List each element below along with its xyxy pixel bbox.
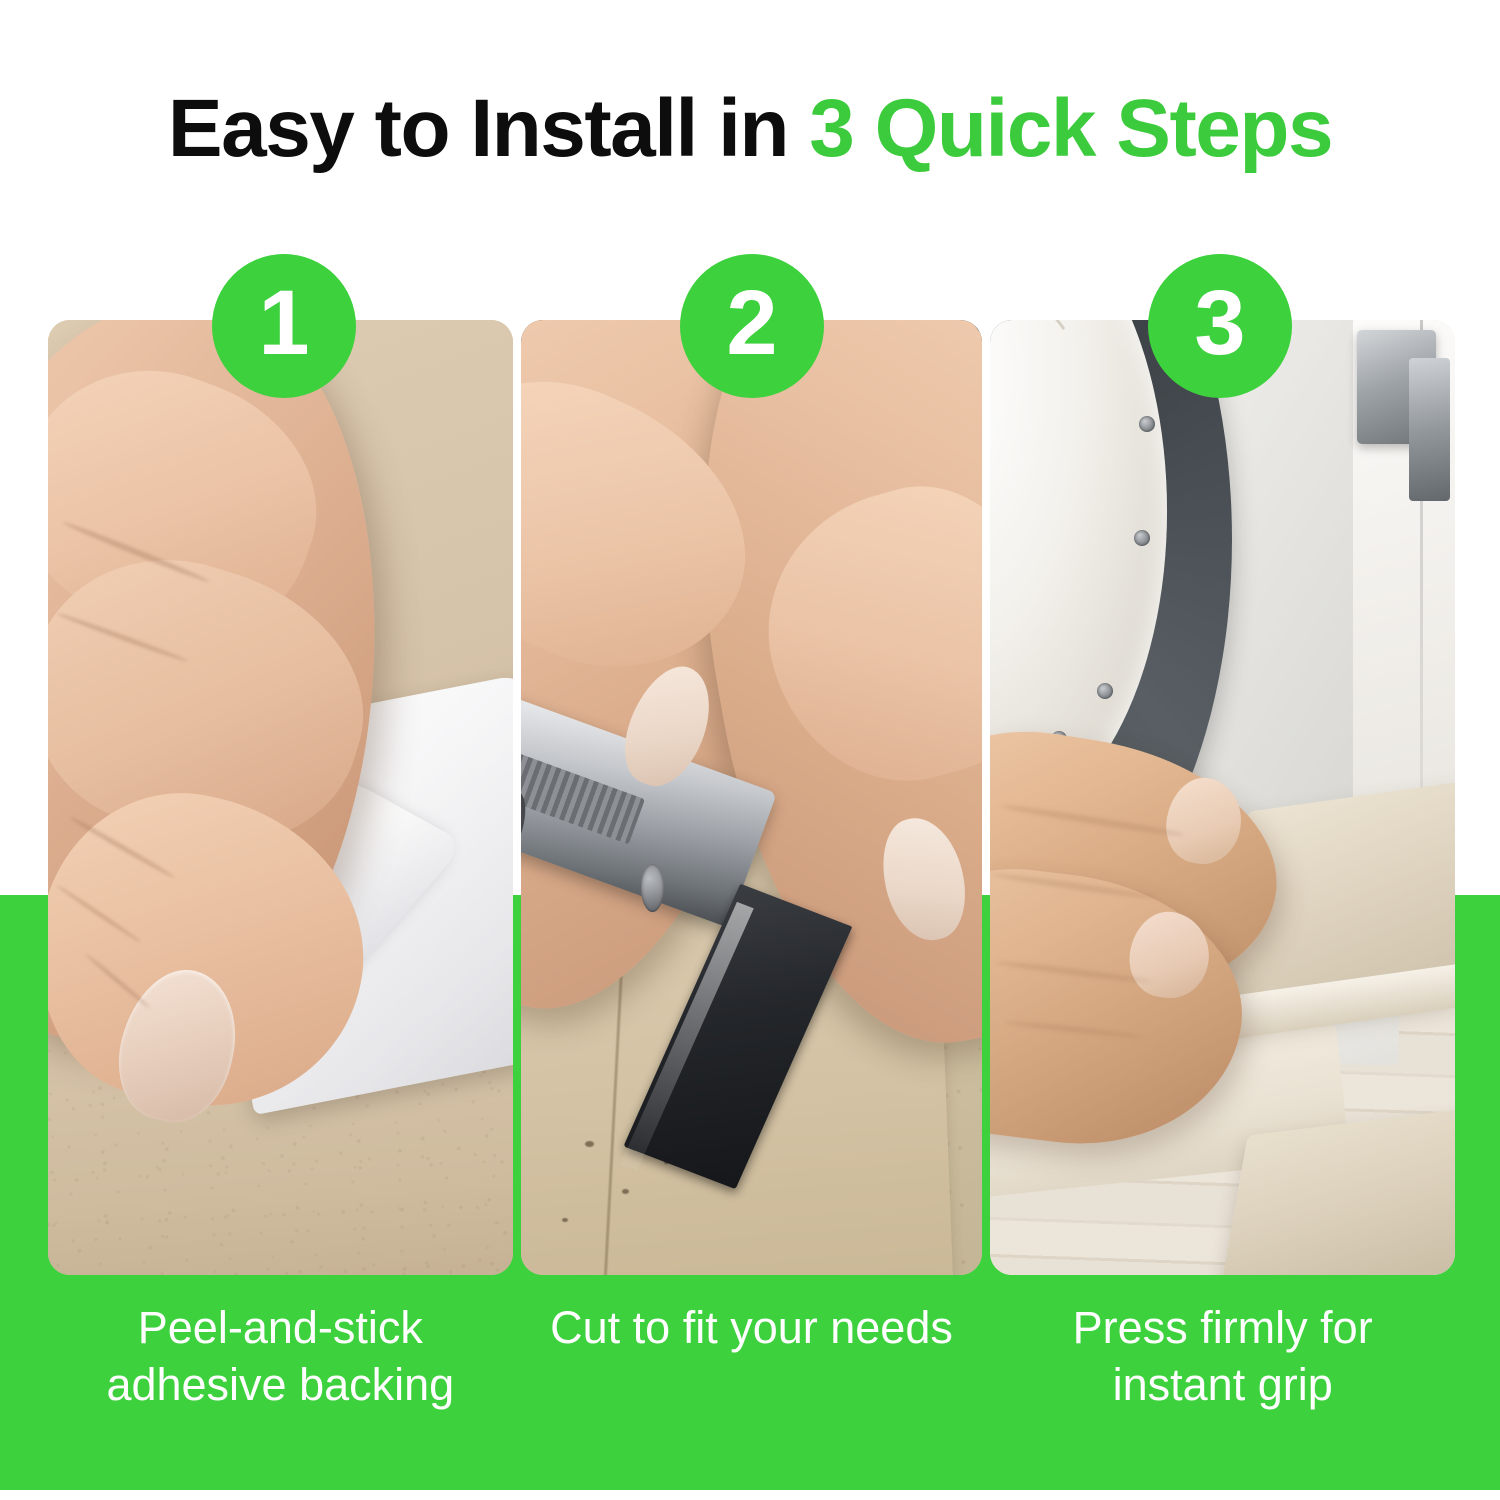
step-badge-2-number: 2 — [726, 277, 777, 369]
step-badge-1-number: 1 — [258, 277, 309, 369]
step-2-photo — [521, 320, 983, 1275]
step-panel-2 — [521, 320, 983, 1275]
page-title: Easy to Install in 3 Quick Steps — [0, 88, 1500, 170]
step-caption-2: Cut to fit your needs — [521, 1300, 983, 1460]
step-badge-1: 1 — [212, 254, 356, 398]
step-panel-1 — [48, 320, 513, 1275]
step-badge-3-number: 3 — [1194, 277, 1245, 369]
step-1-photo — [48, 320, 513, 1275]
infographic-page: Easy to Install in 3 Quick Steps — [0, 0, 1500, 1500]
step-panels-row — [48, 320, 1455, 1275]
step-badge-3: 3 — [1148, 254, 1292, 398]
step-caption-3: Press firmly for instant grip — [990, 1300, 1455, 1460]
step-panel-3 — [990, 320, 1455, 1275]
step-captions-row: Peel-and-stick adhesive backing Cut to f… — [48, 1300, 1455, 1460]
step-3-photo — [990, 320, 1455, 1275]
title-accent-text: 3 Quick Steps — [809, 83, 1332, 174]
step-caption-1: Peel-and-stick adhesive backing — [48, 1300, 513, 1460]
step-badge-2: 2 — [680, 254, 824, 398]
title-lead-text: Easy to Install in — [168, 83, 809, 174]
